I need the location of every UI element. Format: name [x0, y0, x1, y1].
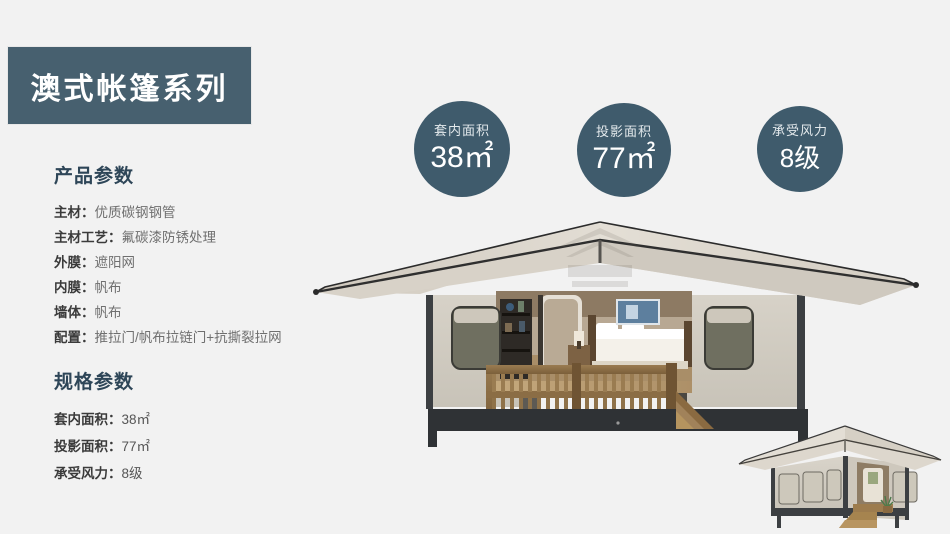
param-value: 推拉门/帆布拉链门+抗撕裂拉网	[95, 330, 282, 345]
spec-value: 77㎡	[122, 439, 151, 454]
stat-badge-interior-area: 套内面积 38㎡	[414, 101, 510, 197]
stat-badge-label: 承受风力	[772, 123, 828, 139]
tent-window-left	[452, 307, 500, 369]
spec-label: 投影面积：	[54, 439, 122, 454]
stat-badge-value: 8级	[780, 141, 820, 175]
param-value: 优质碳钢钢管	[95, 205, 176, 220]
slide-root: 澳式帐篷系列 产品参数 主材：优质碳钢钢管 主材工艺：氟碳漆防锈处理 外膜：遮阳…	[0, 0, 950, 534]
series-title-text: 澳式帐篷系列	[31, 64, 229, 108]
tent-window-right	[705, 307, 753, 369]
stat-badge-wind-resistance: 承受风力 8级	[757, 106, 843, 192]
stat-badge-label: 投影面积	[596, 124, 652, 140]
spec-value: 8级	[122, 466, 143, 481]
tent-inset-svg	[735, 412, 950, 534]
param-value: 帆布	[95, 305, 122, 320]
param-value: 帆布	[95, 280, 122, 295]
param-label: 主材工艺：	[54, 230, 122, 245]
param-label: 配置：	[54, 330, 95, 345]
spec-label: 承受风力：	[54, 466, 122, 481]
spec-row: 承受风力：8级	[54, 460, 354, 487]
stat-badge-projected-area: 投影面积 77㎡	[577, 103, 671, 197]
param-label: 墙体：	[54, 305, 95, 320]
series-title-banner: 澳式帐篷系列	[8, 47, 251, 124]
param-label: 外膜：	[54, 255, 95, 270]
spec-label: 套内面积：	[54, 412, 122, 427]
stat-badge-label: 套内面积	[434, 123, 490, 139]
stat-badge-value: 77㎡	[592, 142, 655, 176]
spec-value: 38㎡	[122, 412, 151, 427]
param-label: 主材：	[54, 205, 95, 220]
param-value: 氟碳漆防锈处理	[122, 230, 217, 245]
param-label: 内膜：	[54, 280, 95, 295]
tent-inset-illustration	[735, 412, 950, 534]
product-params-heading: 产品参数	[54, 166, 354, 188]
param-value: 遮阳网	[95, 255, 136, 270]
stat-badge-value: 38㎡	[430, 141, 493, 175]
